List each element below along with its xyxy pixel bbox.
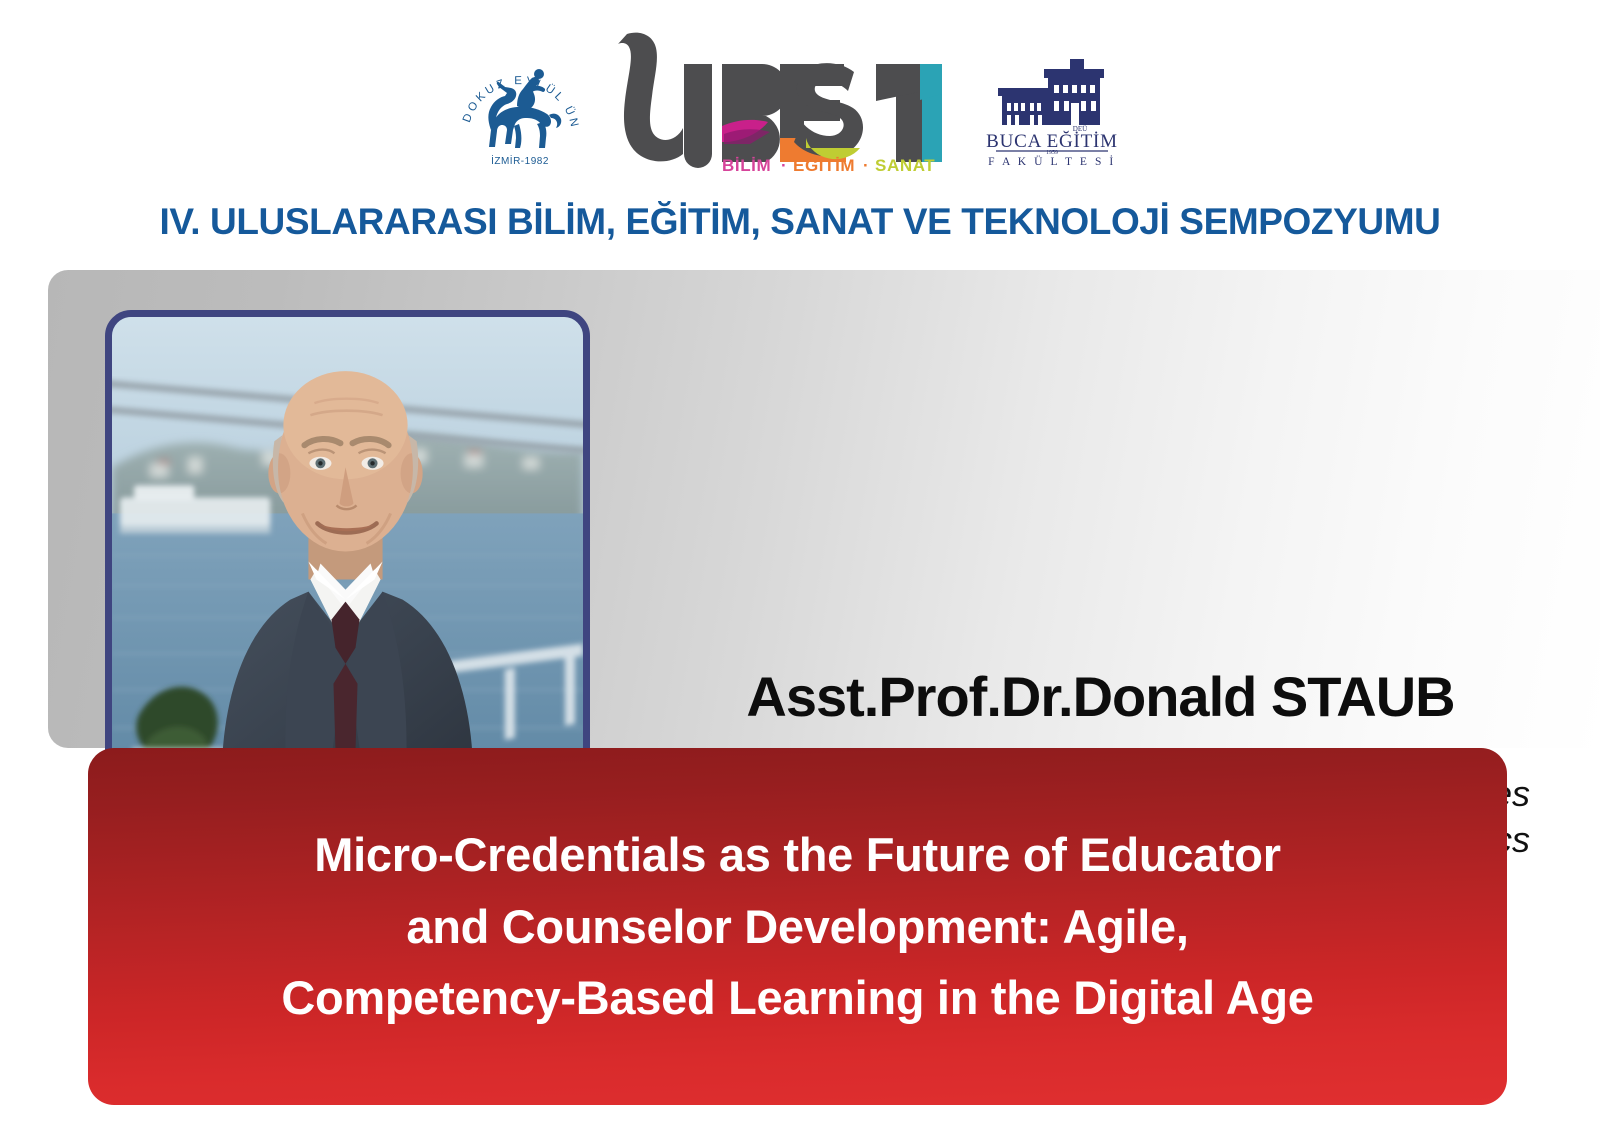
buca-education-faculty-logo-icon: DEÜ BUCA EĞİTİM 1959 F A K Ü L T E S İ [982,55,1122,167]
talk-title-line-3: Competency-Based Learning in the Digital… [114,962,1481,1033]
speaker-portrait-frame [105,310,590,805]
header-logo-strip: DOKUZ EYLÜL ÜNİVERSİTESİ [0,0,1600,190]
ubest-logo-icon: BİLİM · EĞİTİM · SANAT [600,28,970,173]
svg-text:İZMİR-1982: İZMİR-1982 [491,154,549,167]
svg-text:BUCA EĞİTİM: BUCA EĞİTİM [986,130,1118,152]
talk-title: Micro-Credentials as the Future of Educa… [88,819,1507,1033]
dokuz-eylul-university-seal-icon: DOKUZ EYLÜL ÜNİVERSİTESİ [455,52,585,174]
svg-text:BİLİM: BİLİM [722,156,771,173]
svg-text:·: · [781,156,787,173]
talk-title-line-2: and Counselor Development: Agile, [114,891,1481,962]
svg-text:SANAT: SANAT [875,156,935,173]
symposium-title: IV. ULUSLARARASI BİLİM, EĞİTİM, SANAT VE… [0,201,1600,243]
svg-text:F A K Ü L T E S İ: F A K Ü L T E S İ [988,154,1116,167]
svg-text:EĞİTİM: EĞİTİM [793,156,855,173]
talk-title-banner: Micro-Credentials as the Future of Educa… [88,748,1507,1105]
speaker-portrait-image [112,317,583,798]
speaker-name: Asst.Prof.Dr.Donald STAUB [663,668,1538,727]
talk-title-line-1: Micro-Credentials as the Future of Educa… [114,819,1481,890]
svg-text:·: · [863,156,869,173]
